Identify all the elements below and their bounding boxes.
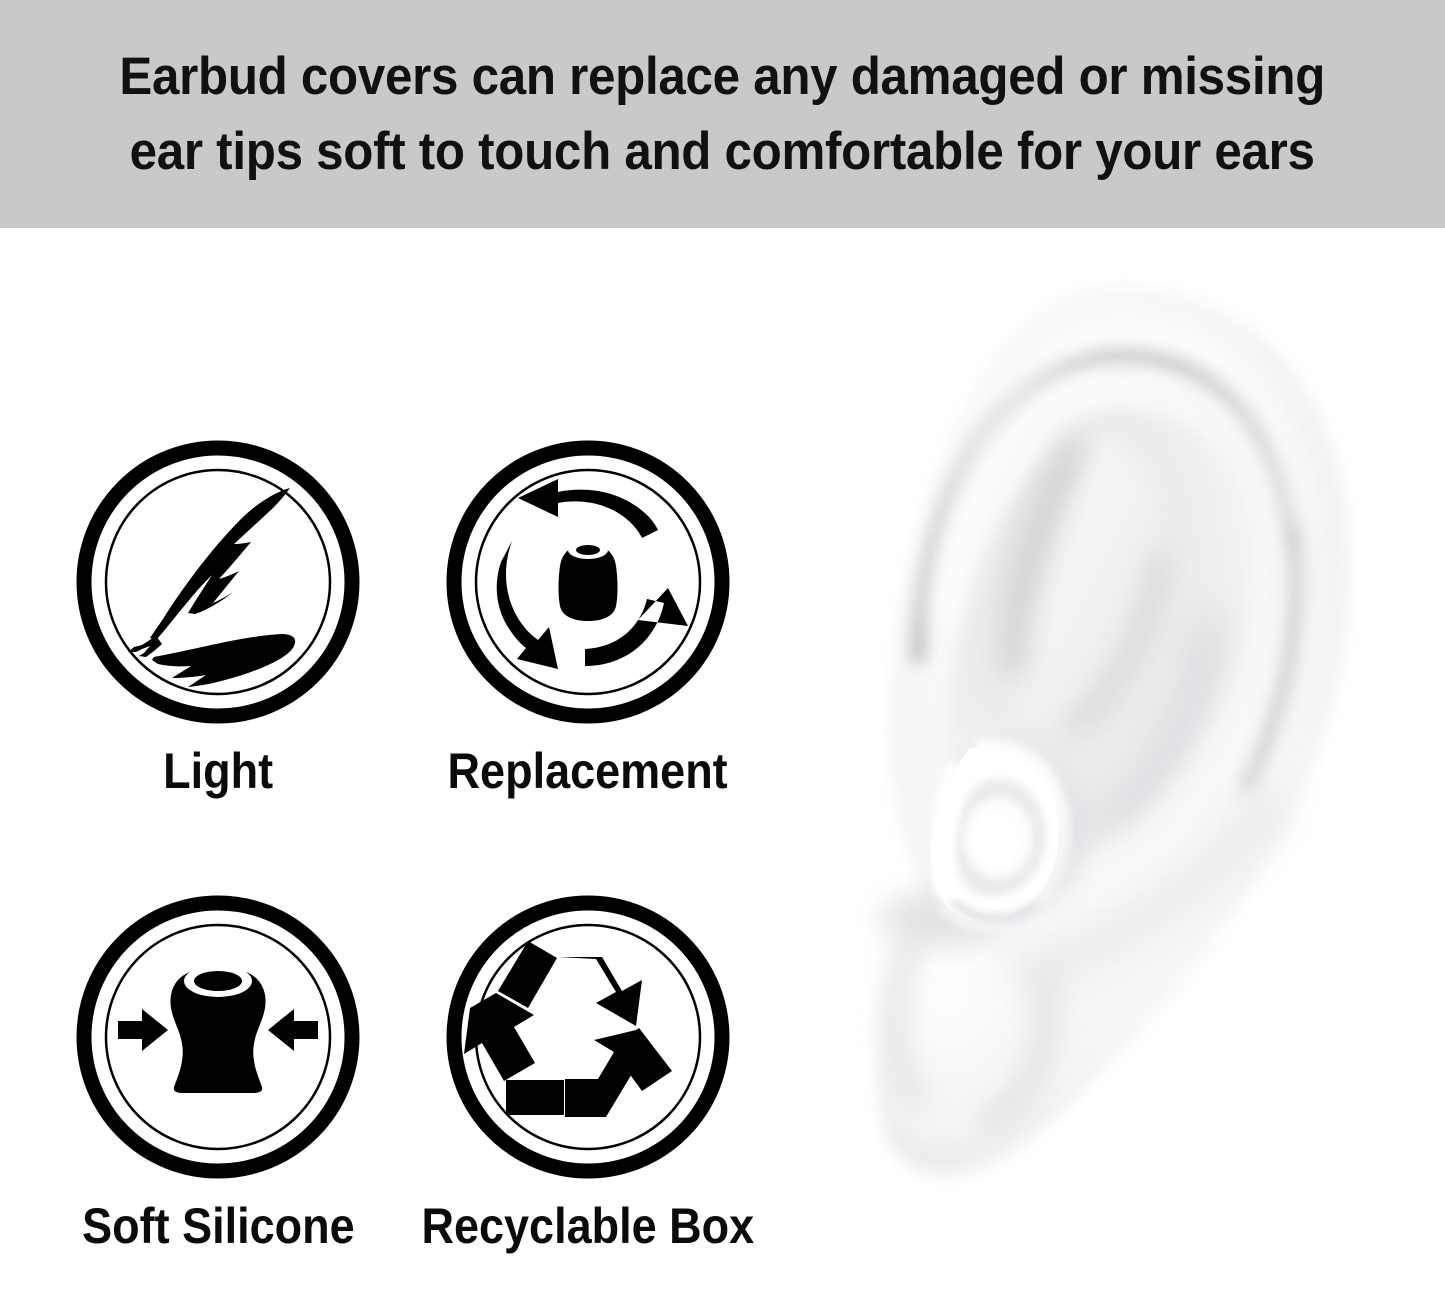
recyclable-box-badge bbox=[446, 895, 730, 1179]
header-line-2: ear tips soft to touch and comfortable f… bbox=[130, 114, 1315, 189]
header-banner: Earbud covers can replace any damaged or… bbox=[0, 0, 1445, 228]
replacement-badge bbox=[446, 440, 730, 724]
feature-soft-silicone: Soft Silicone bbox=[28, 895, 408, 1251]
feature-label-replacement: Replacement bbox=[448, 746, 728, 796]
light-badge bbox=[76, 440, 360, 724]
feature-replacement: Replacement bbox=[398, 440, 778, 796]
product-infographic: Earbud covers can replace any damaged or… bbox=[0, 0, 1445, 1301]
ear-photo bbox=[790, 228, 1445, 1301]
feather-icon bbox=[128, 488, 295, 687]
compress-eartip-icon bbox=[118, 965, 318, 1093]
feature-light: Light bbox=[28, 440, 408, 796]
feature-label-soft-silicone: Soft Silicone bbox=[82, 1201, 355, 1251]
feature-label-light: Light bbox=[163, 746, 273, 796]
recycle-icon bbox=[464, 941, 672, 1117]
rotate-eartip-icon bbox=[497, 479, 688, 669]
feature-grid: Light bbox=[0, 228, 840, 1301]
header-line-1: Earbud covers can replace any damaged or… bbox=[120, 39, 1326, 114]
feature-label-recyclable-box: Recyclable Box bbox=[422, 1201, 755, 1251]
feature-recyclable-box: Recyclable Box bbox=[398, 895, 778, 1251]
soft-silicone-badge bbox=[76, 895, 360, 1179]
